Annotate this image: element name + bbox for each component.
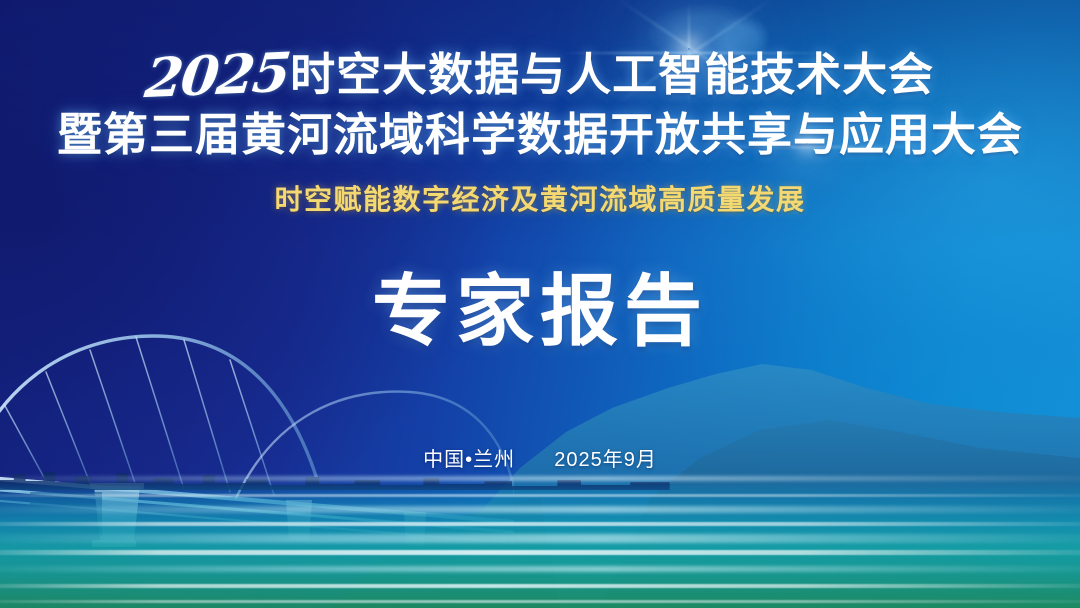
venue-text: 中国•兰州 xyxy=(423,449,515,471)
conference-title-line-1: 时空大数据与人工智能技术大会 xyxy=(290,52,934,97)
slide-content: 2025 时空大数据与人工智能技术大会 暨第三届黄河流域科学数据开放共享与应用大… xyxy=(0,0,1080,608)
conference-title-line-2: 暨第三届黄河流域科学数据开放共享与应用大会 xyxy=(0,112,1080,157)
conference-subtitle: 时空赋能数字经济及黄河流域高质量发展 xyxy=(0,186,1080,214)
conference-title-slide: 2025 时空大数据与人工智能技术大会 暨第三届黄河流域科学数据开放共享与应用大… xyxy=(0,0,1080,608)
conference-title-row: 2025 时空大数据与人工智能技术大会 xyxy=(0,44,1080,98)
date-text: 2025年9月 xyxy=(554,449,657,471)
venue-and-date: 中国•兰州 2025年9月 xyxy=(0,450,1080,470)
year-logo: 2025 xyxy=(142,45,291,105)
slide-headline: 专家报告 xyxy=(0,272,1080,350)
